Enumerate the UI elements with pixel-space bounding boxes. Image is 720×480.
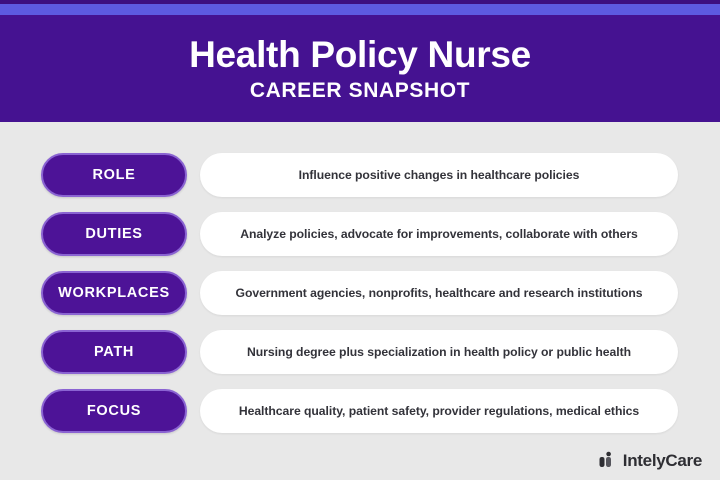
table-row: WORKPLACES Government agencies, nonprofi…	[0, 271, 720, 315]
row-value-text: Healthcare quality, patient safety, prov…	[239, 404, 639, 418]
row-value-text: Analyze policies, advocate for improveme…	[240, 227, 638, 241]
table-row: DUTIES Analyze policies, advocate for im…	[0, 212, 720, 256]
row-value-path: Nursing degree plus specialization in he…	[200, 330, 678, 374]
page-subtitle: CAREER SNAPSHOT	[250, 80, 470, 101]
brand-logo: IntelyCare	[598, 451, 702, 470]
brand-name: IntelyCare	[623, 452, 702, 469]
row-value-workplaces: Government agencies, nonprofits, healthc…	[200, 271, 678, 315]
row-label-duties: DUTIES	[41, 212, 187, 256]
row-label-focus: FOCUS	[41, 389, 187, 433]
snapshot-rows: ROLE Influence positive changes in healt…	[0, 122, 720, 432]
row-value-text: Government agencies, nonprofits, healthc…	[236, 286, 643, 300]
header-accent-band	[0, 4, 720, 15]
row-label-text: DUTIES	[85, 226, 142, 242]
table-row: FOCUS Healthcare quality, patient safety…	[0, 389, 720, 433]
row-value-focus: Healthcare quality, patient safety, prov…	[200, 389, 678, 433]
row-label-text: FOCUS	[87, 403, 141, 419]
row-label-text: WORKPLACES	[58, 285, 170, 301]
row-value-duties: Analyze policies, advocate for improveme…	[200, 212, 678, 256]
row-label-path: PATH	[41, 330, 187, 374]
row-value-text: Nursing degree plus specialization in he…	[247, 345, 631, 359]
page-title: Health Policy Nurse	[189, 36, 531, 75]
table-row: ROLE Influence positive changes in healt…	[0, 153, 720, 197]
header-title-group: Health Policy Nurse CAREER SNAPSHOT	[0, 15, 720, 122]
career-snapshot-infographic: Health Policy Nurse CAREER SNAPSHOT ROLE…	[0, 0, 720, 480]
row-label-role: ROLE	[41, 153, 187, 197]
intelycare-mark-icon	[598, 451, 617, 470]
row-label-workplaces: WORKPLACES	[41, 271, 187, 315]
row-value-role: Influence positive changes in healthcare…	[200, 153, 678, 197]
row-value-text: Influence positive changes in healthcare…	[299, 168, 580, 182]
row-label-text: ROLE	[92, 167, 135, 183]
table-row: PATH Nursing degree plus specialization …	[0, 330, 720, 374]
header-banner: Health Policy Nurse CAREER SNAPSHOT	[0, 0, 720, 122]
row-label-text: PATH	[94, 344, 134, 360]
